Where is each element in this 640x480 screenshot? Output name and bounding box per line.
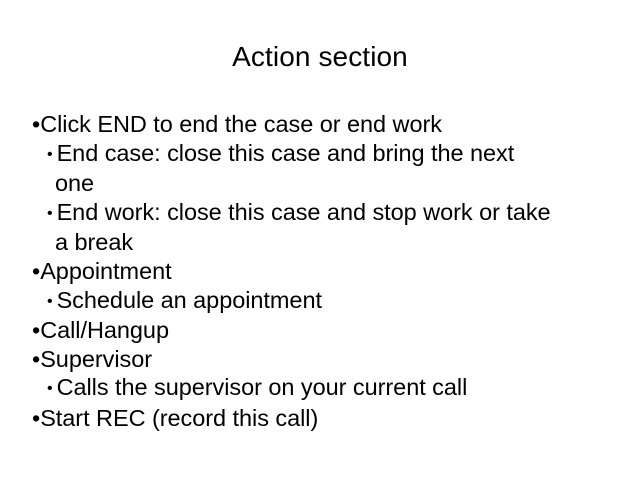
- bullet-item: •Supervisor: [28, 345, 620, 374]
- bullet-item: •Start REC (record this call): [28, 404, 620, 433]
- bullet-icon: •: [47, 375, 53, 404]
- bullet-item: •Calls the supervisor on your current ca…: [28, 373, 620, 404]
- bullet-icon: •: [32, 257, 40, 286]
- bullet-icon: •: [32, 404, 40, 433]
- bullet-text: Schedule an appointment: [57, 287, 322, 313]
- bullet-text: a break: [55, 229, 133, 255]
- bullet-text: Calls the supervisor on your current cal…: [57, 374, 468, 400]
- bullet-text: Call/Hangup: [40, 317, 169, 343]
- bullet-icon: •: [47, 288, 53, 317]
- slide-body-list: •Click END to end the case or end work•E…: [28, 110, 620, 433]
- bullet-icon: •: [47, 141, 53, 170]
- slide: Action section •Click END to end the cas…: [0, 0, 640, 480]
- bullet-icon: •: [47, 200, 53, 229]
- bullet-item: •Appointment: [28, 257, 620, 286]
- bullet-text: Start REC (record this call): [40, 405, 318, 431]
- bullet-text: Supervisor: [40, 346, 152, 372]
- bullet-item: •Click END to end the case or end work: [28, 110, 620, 139]
- bullet-item: •Schedule an appointment: [28, 286, 620, 317]
- bullet-item-continuation: one: [28, 169, 620, 198]
- bullet-text: Click END to end the case or end work: [40, 111, 442, 137]
- bullet-text: End work: close this case and stop work …: [57, 199, 551, 225]
- bullet-item: •Call/Hangup: [28, 316, 620, 345]
- bullet-item-continuation: a break: [28, 228, 620, 257]
- bullet-text: Appointment: [40, 258, 171, 284]
- bullet-item: •End case: close this case and bring the…: [28, 139, 620, 170]
- bullet-text: one: [55, 170, 94, 196]
- bullet-icon: •: [32, 316, 40, 345]
- bullet-text: End case: close this case and bring the …: [57, 140, 515, 166]
- bullet-icon: •: [32, 110, 40, 139]
- page-title: Action section: [0, 40, 640, 74]
- bullet-item: •End work: close this case and stop work…: [28, 198, 620, 229]
- bullet-icon: •: [32, 345, 40, 374]
